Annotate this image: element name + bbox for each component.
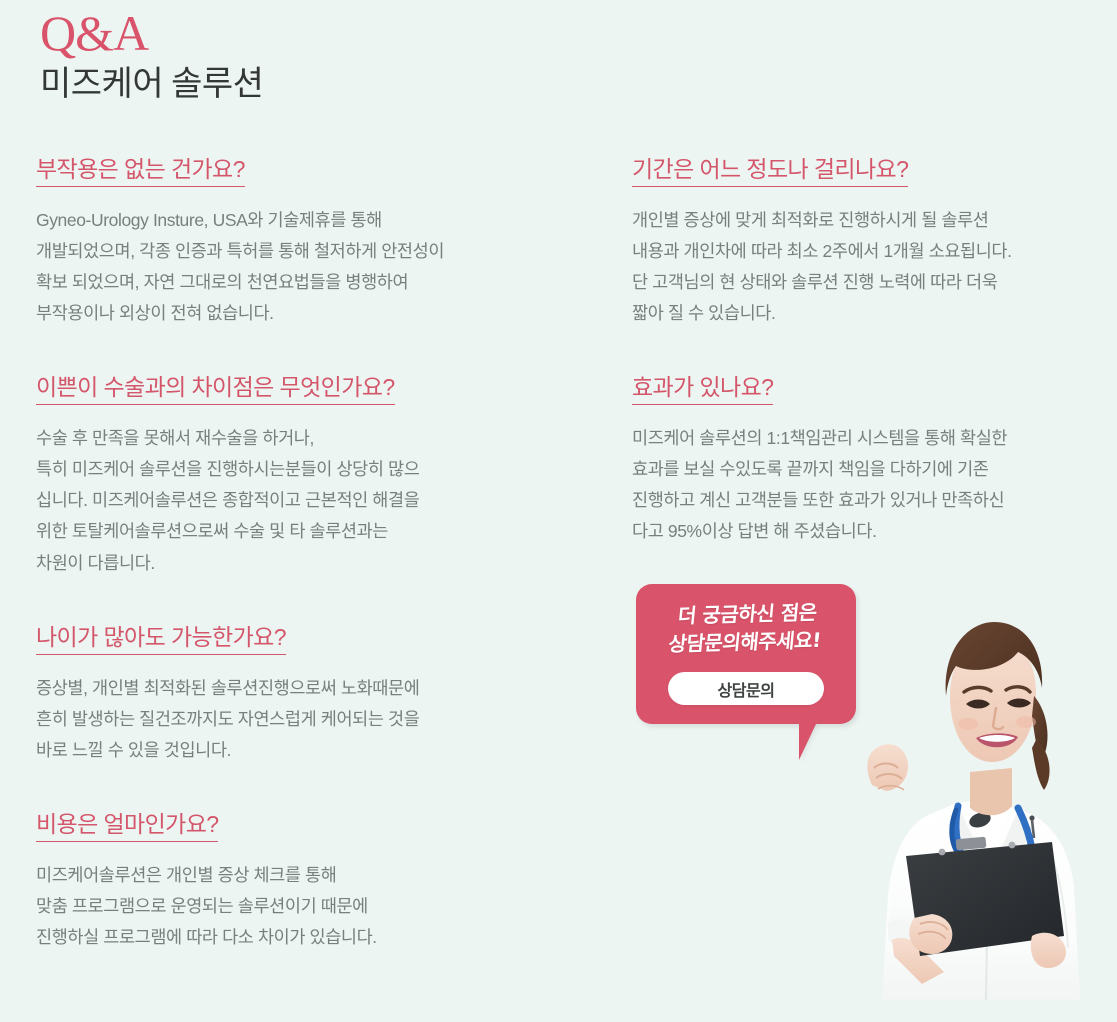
qa-item: 비용은 얼마인가요? 미즈케어솔루션은 개인별 증상 체크를 통해 맞춤 프로그… [36, 810, 596, 953]
page-header: Q&A 미즈케어 솔루션 [40, 8, 263, 107]
qa-item: 효과가 있나요? 미즈케어 솔루션의 1:1책임관리 시스템을 통해 확실한 효… [632, 373, 1102, 547]
answer-text: Gyneo-Urology Insture, USA와 기술제휴를 통해 개발되… [36, 205, 596, 330]
page-title-en: Q&A [40, 8, 263, 58]
raised-fist [867, 744, 908, 791]
qa-item: 나이가 많아도 가능한가요? 증상별, 개인별 최적화된 솔루션진행으로써 노화… [36, 623, 596, 766]
answer-text: 개인별 증상에 맞게 최적화로 진행하시게 될 솔루션 내용과 개인차에 따라 … [632, 205, 1102, 330]
speech-bubble-tail [799, 722, 829, 760]
doctor-illustration [836, 600, 1117, 1000]
qa-item: 기간은 어느 정도나 걸리나요? 개인별 증상에 맞게 최적화로 진행하시게 될… [632, 155, 1102, 329]
question-title[interactable]: 비용은 얼마인가요? [36, 810, 218, 842]
question-title[interactable]: 기간은 어느 정도나 걸리나요? [632, 155, 908, 187]
qa-column-left: 부작용은 없는 건가요? Gyneo-Urology Insture, USA와… [36, 155, 596, 989]
answer-text: 미즈케어 솔루션의 1:1책임관리 시스템을 통해 확실한 효과를 보실 수있도… [632, 423, 1102, 548]
question-title[interactable]: 부작용은 없는 건가요? [36, 155, 245, 187]
speech-bubble-line-2: 상담문의해주세요! [633, 625, 856, 660]
question-title[interactable]: 이쁜이 수술과의 차이점은 무엇인가요? [36, 373, 395, 405]
qa-page: Q&A 미즈케어 솔루션 부작용은 없는 건가요? Gyneo-Urology … [0, 0, 1117, 1022]
consult-callout: 더 궁금하신 점은 상담문의해주세요! 상담문의 [636, 584, 856, 724]
consult-button[interactable]: 상담문의 [668, 672, 824, 705]
doctor-figure-svg [836, 600, 1117, 1000]
answer-text: 수술 후 만족을 못해서 재수술을 하거나, 특히 미즈케어 솔루션을 진행하시… [36, 423, 596, 579]
answer-text: 증상별, 개인별 최적화된 솔루션진행으로써 노화때문에 흔히 발생하는 질건조… [36, 673, 596, 766]
answer-text: 미즈케어솔루션은 개인별 증상 체크를 통해 맞춤 프로그램으로 운영되는 솔루… [36, 860, 596, 953]
qa-column-right: 기간은 어느 정도나 걸리나요? 개인별 증상에 맞게 최적화로 진행하시게 될… [632, 155, 1102, 584]
speech-bubble-text: 더 궁금하신 점은 상담문의해주세요! [633, 597, 859, 660]
question-title[interactable]: 효과가 있나요? [632, 373, 773, 405]
page-title-ko: 미즈케어 솔루션 [40, 64, 263, 107]
head [946, 622, 1050, 815]
speech-bubble: 더 궁금하신 점은 상담문의해주세요! 상담문의 [636, 584, 856, 724]
question-title[interactable]: 나이가 많아도 가능한가요? [36, 623, 286, 655]
qa-item: 이쁜이 수술과의 차이점은 무엇인가요? 수술 후 만족을 못해서 재수술을 하… [36, 373, 596, 578]
qa-item: 부작용은 없는 건가요? Gyneo-Urology Insture, USA와… [36, 155, 596, 329]
